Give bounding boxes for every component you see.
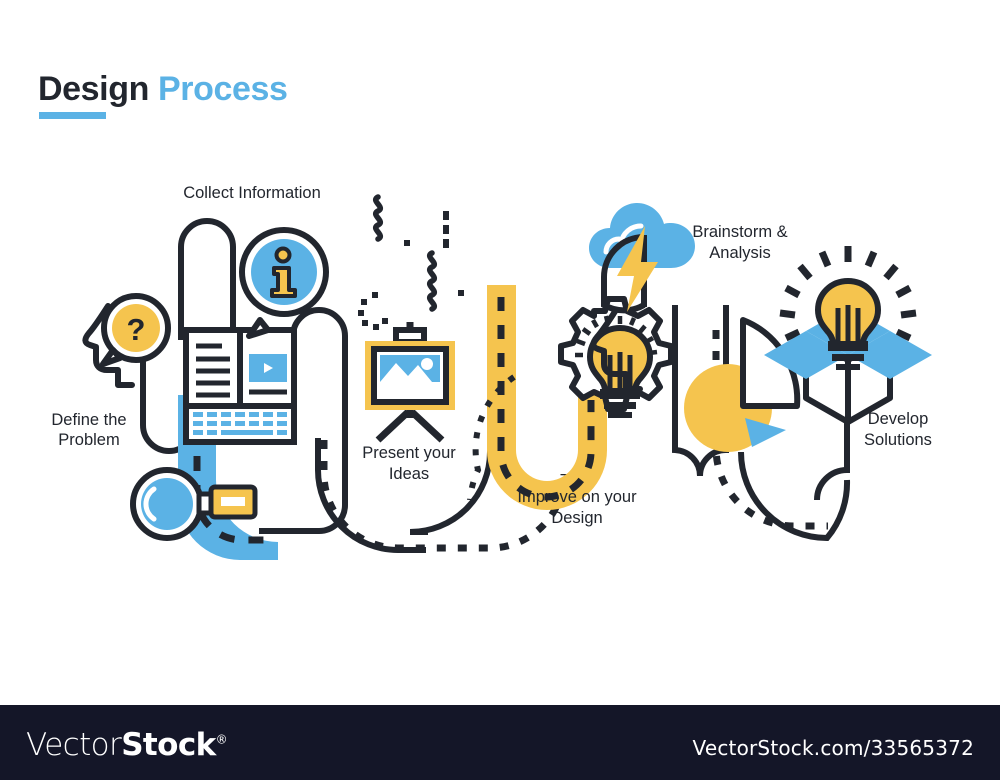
step-label-present-your-ideas-line1: Present your xyxy=(362,444,456,462)
step-label-develop-solutions-line1: Develop xyxy=(868,410,929,428)
magnifier-lens xyxy=(141,478,193,530)
step-label-brainstorm-and-analysis-line2: Analysis xyxy=(709,244,770,262)
squiggle-left xyxy=(376,197,381,239)
footer-bar: VectorStock® VectorStock.com/33565372 xyxy=(0,705,1000,780)
step-label-improve-on-your-design-line1: Improve on your xyxy=(517,488,637,506)
title-underline-rule xyxy=(39,112,106,119)
illustration-canvas: ? Define the Problem Collect Information xyxy=(0,0,1000,780)
page-title: Design Process xyxy=(38,70,288,109)
easel-picture-sun xyxy=(421,358,433,370)
info-dot xyxy=(277,249,290,262)
page-title-first-word: Design xyxy=(38,70,149,108)
step-label-define-the-problem-line1: Define the xyxy=(51,411,126,429)
develop-bulb-base-top xyxy=(828,341,868,351)
icon-laptop-screen xyxy=(186,330,294,442)
lightbulb-base-mid xyxy=(604,402,636,409)
squiggle-right xyxy=(430,253,435,309)
develop-bulb-base-bottom xyxy=(836,364,860,370)
question-mark-glyph: ? xyxy=(127,312,146,347)
step-label-collect-information: Collect Information xyxy=(183,184,321,202)
step-label-present-your-ideas-line2: Ideas xyxy=(389,465,429,483)
logo-light-part: Vector xyxy=(26,727,121,763)
vectorstock-logo: VectorStock® xyxy=(26,727,227,763)
develop-bulb-base-mid xyxy=(832,354,864,361)
vectorstock-url: VectorStock.com/33565372 xyxy=(693,736,975,760)
registered-trademark-icon: ® xyxy=(216,733,227,747)
page-title-second-word: Process xyxy=(158,70,288,108)
logo-bold-part: Stock xyxy=(121,727,215,763)
step-label-define-the-problem-line2: Problem xyxy=(58,431,119,449)
step-label-brainstorm-and-analysis-line1: Brainstorm & xyxy=(692,223,787,241)
magnifier-handle-grip xyxy=(221,497,245,506)
easel-clip xyxy=(396,330,424,342)
step-label-develop-solutions-line2: Solutions xyxy=(864,431,932,449)
laptop-keys xyxy=(193,412,287,435)
lightbulb-base-bottom xyxy=(608,412,632,418)
step-label-improve-on-your-design-line2: Design xyxy=(551,509,602,527)
